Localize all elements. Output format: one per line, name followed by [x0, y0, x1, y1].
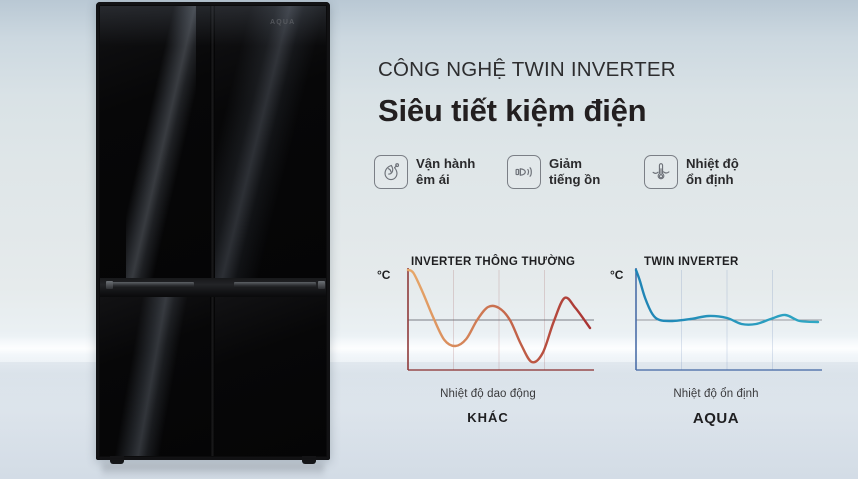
chart-twin-inverter: TWIN INVERTER °C Nhiệt độ ổn định AQUA — [602, 248, 830, 438]
door-bottom-left — [100, 297, 210, 456]
glass-reflection — [215, 6, 326, 278]
handle-left — [112, 282, 194, 288]
chart-caption: Nhiệt độ ổn định — [602, 388, 830, 400]
handle-right — [234, 282, 316, 288]
product-reflection — [102, 464, 324, 478]
speaker-noise-icon — [507, 155, 541, 189]
glass-reflection — [126, 6, 196, 278]
product-logo: AQUA — [270, 19, 295, 26]
handle-end-cap-right — [318, 281, 325, 289]
door-bottom-right — [215, 297, 326, 456]
chart-conventional-inverter: INVERTER THÔNG THƯỜNG °C Nhiệt độ dao độ… — [374, 248, 602, 438]
foot-right — [302, 456, 316, 464]
feature-label: Giảm tiếng ồn — [549, 156, 600, 188]
feature-label: Vận hành êm ái — [416, 156, 475, 188]
promo-banner: AQUA CÔNG NGHỆ TWIN INVERTER Siêu tiết k… — [0, 0, 858, 479]
glass-reflection — [110, 297, 190, 456]
feature-label: Nhiệt độ ổn định — [686, 156, 739, 188]
thermometer-icon — [644, 155, 678, 189]
feature-item-quiet-operation: Vận hành êm ái — [374, 155, 475, 189]
feature-label-line1: Vận hành — [416, 156, 475, 171]
feature-item-stable-temperature: Nhiệt độ ổn định — [644, 155, 739, 189]
door-top-left — [100, 6, 210, 278]
chart-svg — [624, 266, 824, 390]
product-image: AQUA — [96, 2, 330, 470]
kicker-text: CÔNG NGHỆ TWIN INVERTER — [378, 58, 676, 82]
quiet-operation-icon — [374, 155, 408, 189]
feature-label-line2: ổn định — [686, 172, 734, 187]
door-top-right — [215, 6, 326, 278]
content-column: CÔNG NGHỆ TWIN INVERTER Siêu tiết kiệm đ… — [374, 0, 858, 479]
handle-band — [100, 278, 326, 297]
chart-plot-area — [396, 266, 596, 390]
foot-left — [110, 456, 124, 464]
feature-label-line1: Giảm — [549, 156, 582, 171]
chart-brand-label: AQUA — [602, 410, 830, 427]
chart-brand-label: KHÁC — [374, 410, 602, 425]
feature-label-line2: êm ái — [416, 172, 450, 187]
handle-end-cap-left — [106, 281, 113, 289]
page-title: Siêu tiết kiệm điện — [378, 93, 646, 129]
chart-svg — [396, 266, 596, 390]
door-seam-vertical — [210, 6, 215, 456]
chart-caption: Nhiệt độ dao động — [374, 388, 602, 400]
feature-item-noise-reduction: Giảm tiếng ồn — [507, 155, 600, 189]
feature-label-line2: tiếng ồn — [549, 172, 600, 187]
refrigerator-body: AQUA — [96, 2, 330, 460]
chart-plot-area — [624, 266, 824, 390]
comparison-charts: INVERTER THÔNG THƯỜNG °C Nhiệt độ dao độ… — [374, 248, 858, 438]
feature-list: Vận hành êm ái Giảm tiếng ồn — [374, 155, 794, 210]
chart-y-unit: °C — [610, 268, 623, 282]
feature-label-line1: Nhiệt độ — [686, 156, 739, 171]
chart-y-unit: °C — [377, 268, 390, 282]
